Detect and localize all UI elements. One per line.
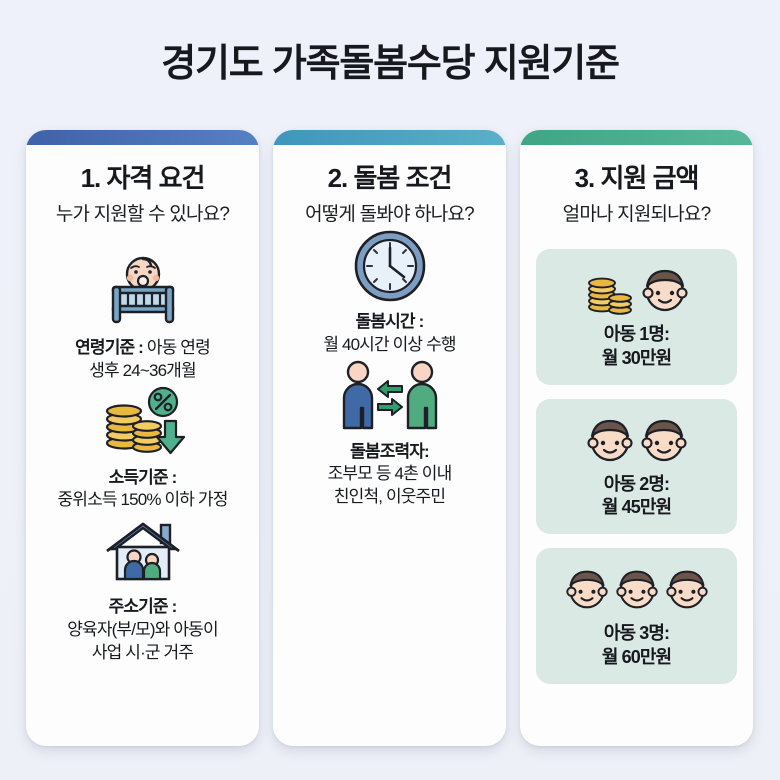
- amount-value-two-children: 월 45만원: [602, 497, 671, 517]
- coin-stack-icon: [584, 265, 636, 315]
- criterion-income-label: 소득기준 :: [109, 468, 177, 487]
- criterion-address: 주소기준 : 양육자(부/모)와 아동이 사업 시·군 거주: [38, 512, 247, 664]
- child-face-icon: [664, 567, 710, 611]
- child-face-icon: [639, 416, 689, 464]
- child-face-icon: [614, 567, 660, 611]
- card-header-3: 3. 지원 금액 얼마나 지원되나요?: [532, 162, 741, 227]
- card-header-2: 2. 돌봄 조건 어떻게 돌봐야 하나요?: [285, 162, 494, 227]
- two-people-exchange-icon: [285, 357, 494, 435]
- card-accent-bar-2: [273, 130, 506, 145]
- amount-box-three-children: 아동 3명: 월 60만원: [536, 548, 737, 684]
- criterion-address-text: 주소기준 : 양육자(부/모)와 아동이 사업 시·군 거주: [38, 596, 247, 664]
- criterion-income-text: 소득기준 : 중위소득 150% 이하 가정: [38, 467, 247, 513]
- card-subtitle-2: 어떻게 돌봐야 하나요?: [285, 203, 494, 228]
- card-header-1: 1. 자격 요건 누가 지원할 수 있나요?: [38, 162, 247, 227]
- criterion-income: 소득기준 : 중위소득 150% 이하 가정: [38, 383, 247, 513]
- criterion-age-detail: 생후 24~36개월: [89, 361, 196, 380]
- child-face-icon: [564, 567, 610, 611]
- condition-care-hours-detail: 월 40시간 이상 수행: [323, 335, 455, 354]
- criterion-age-value: 아동 연령: [147, 338, 210, 357]
- amount-label-one-child: 아동 1명:: [604, 324, 669, 344]
- coins-percent-down-icon: [38, 383, 247, 461]
- coins-and-one-child-icon: [544, 261, 729, 319]
- amount-text-one-child: 아동 1명: 월 30만원: [544, 323, 729, 371]
- condition-care-hours: 돌봄시간 : 월 40시간 이상 수행: [285, 227, 494, 357]
- card-care-conditions: 2. 돌봄 조건 어떻게 돌봐야 하나요?: [273, 130, 506, 746]
- page-title: 경기도 가족돌봄수당 지원기준: [0, 0, 780, 88]
- condition-care-hours-text: 돌봄시간 : 월 40시간 이상 수행: [285, 311, 494, 357]
- infographic-page: 경기도 가족돌봄수당 지원기준 1. 자격 요건 누가 지원할 수 있나요?: [0, 0, 780, 780]
- card-accent-bar-1: [26, 130, 259, 145]
- card-title-1: 1. 자격 요건: [38, 162, 247, 195]
- clock-icon: [285, 227, 494, 305]
- two-children-icon: [544, 411, 729, 469]
- cards-row: 1. 자격 요건 누가 지원할 수 있나요?: [26, 130, 754, 746]
- criterion-address-detail2: 사업 시·군 거주: [92, 643, 193, 662]
- amount-label-two-children: 아동 2명:: [604, 474, 669, 494]
- criterion-age-label: 연령기준 :: [75, 338, 143, 357]
- condition-care-helper: 돌봄조력자: 조부모 등 4촌 이내 친인척, 이웃주민: [285, 357, 494, 509]
- condition-care-helper-text: 돌봄조력자: 조부모 등 4촌 이내 친인척, 이웃주민: [285, 441, 494, 509]
- condition-care-helper-detail2: 친인척, 이웃주민: [334, 487, 445, 506]
- amount-label-three-children: 아동 3명:: [604, 623, 669, 643]
- card-eligibility: 1. 자격 요건 누가 지원할 수 있나요?: [26, 130, 259, 746]
- three-children-icon: [544, 560, 729, 618]
- card-subtitle-1: 누가 지원할 수 있나요?: [38, 203, 247, 228]
- amount-list: 아동 1명: 월 30만원: [532, 249, 741, 684]
- card-subtitle-3: 얼마나 지원되나요?: [532, 203, 741, 228]
- condition-care-hours-label: 돌봄시간 :: [356, 312, 424, 331]
- condition-care-helper-label: 돌봄조력자:: [350, 442, 429, 461]
- card-support-amount: 3. 지원 금액 얼마나 지원되나요?: [520, 130, 753, 746]
- amount-value-one-child: 월 30만원: [602, 348, 671, 368]
- criterion-address-detail: 양육자(부/모)와 아동이: [67, 620, 217, 639]
- card-accent-bar-3: [520, 130, 753, 145]
- amount-value-three-children: 월 60만원: [602, 647, 671, 667]
- house-family-icon: [38, 512, 247, 590]
- amount-text-two-children: 아동 2명: 월 45만원: [544, 473, 729, 521]
- criterion-income-detail: 중위소득 150% 이하 가정: [57, 490, 227, 509]
- child-face-icon: [585, 416, 635, 464]
- amount-box-two-children: 아동 2명: 월 45만원: [536, 399, 737, 535]
- condition-care-helper-detail: 조부모 등 4촌 이내: [328, 464, 452, 483]
- card-title-3: 3. 지원 금액: [532, 162, 741, 195]
- criterion-age-text: 연령기준 : 아동 연령 생후 24~36개월: [38, 337, 247, 383]
- baby-crib-icon: [38, 253, 247, 331]
- amount-text-three-children: 아동 3명: 월 60만원: [544, 622, 729, 670]
- amount-box-one-child: 아동 1명: 월 30만원: [536, 249, 737, 385]
- card-title-2: 2. 돌봄 조건: [285, 162, 494, 195]
- child-face-icon: [640, 266, 690, 314]
- criterion-age: 연령기준 : 아동 연령 생후 24~36개월: [38, 253, 247, 383]
- criterion-address-label: 주소기준 :: [109, 597, 177, 616]
